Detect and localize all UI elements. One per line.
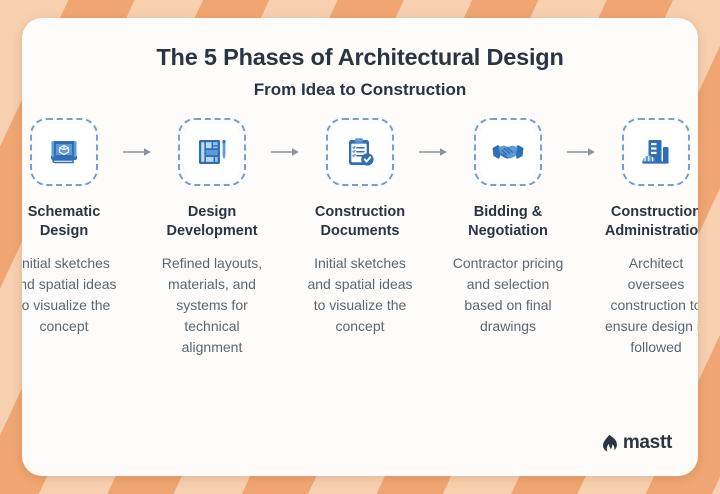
icon-frame-5 <box>622 118 690 186</box>
phase-title: Schematic Design <box>22 203 126 240</box>
phase-design-development: Design Development Refined layouts, mate… <box>148 118 276 358</box>
infographic-page: { "header": { "title": "The 5 Phases of … <box>0 0 720 494</box>
infographic-card: The 5 Phases of Architectural Design Fro… <box>22 18 698 476</box>
phase-title: Construction Documents <box>298 203 422 240</box>
phase-description: Architect oversees construction to ensur… <box>600 253 698 358</box>
phase-title: Construction Administration <box>594 203 698 240</box>
floor-plan-pencil-icon <box>185 125 239 179</box>
blueprint-roll-icon <box>37 125 91 179</box>
phase-description: Initial sketches and spatial ideas to vi… <box>304 253 416 337</box>
phase-construction-documents: Construction Documents Initial sketches … <box>296 118 424 337</box>
page-subtitle: From Idea to Construction <box>22 80 698 100</box>
phase-title: Bidding & Negotiation <box>446 203 570 240</box>
clipboard-check-icon <box>333 125 387 179</box>
icon-frame-3 <box>326 118 394 186</box>
heading-block: The 5 Phases of Architectural Design Fro… <box>22 18 698 100</box>
phase-bidding-negotiation: Bidding & Negotiation Contractor pricing… <box>444 118 572 337</box>
mastt-logo-text: mastt <box>623 432 672 454</box>
phase-schematic-design: Schematic Design Initial sketches and sp… <box>22 118 128 337</box>
buildings-icon <box>629 125 683 179</box>
phase-description: Contractor pricing and selection based o… <box>452 253 564 337</box>
icon-frame-4 <box>474 118 542 186</box>
icon-frame-2 <box>178 118 246 186</box>
phases-row: Schematic Design Initial sketches and sp… <box>22 118 698 358</box>
phase-description: Initial sketches and spatial ideas to vi… <box>22 253 120 337</box>
icon-frame-1 <box>30 118 98 186</box>
phase-construction-administration: Construction Administration Architect ov… <box>592 118 698 358</box>
phase-title: Design Development <box>150 203 274 240</box>
mastt-flame-icon <box>601 434 618 453</box>
handshake-icon <box>481 125 535 179</box>
phase-description: Refined layouts, materials, and systems … <box>156 253 268 358</box>
mastt-logo: mastt <box>601 432 672 454</box>
page-title: The 5 Phases of Architectural Design <box>22 44 698 71</box>
